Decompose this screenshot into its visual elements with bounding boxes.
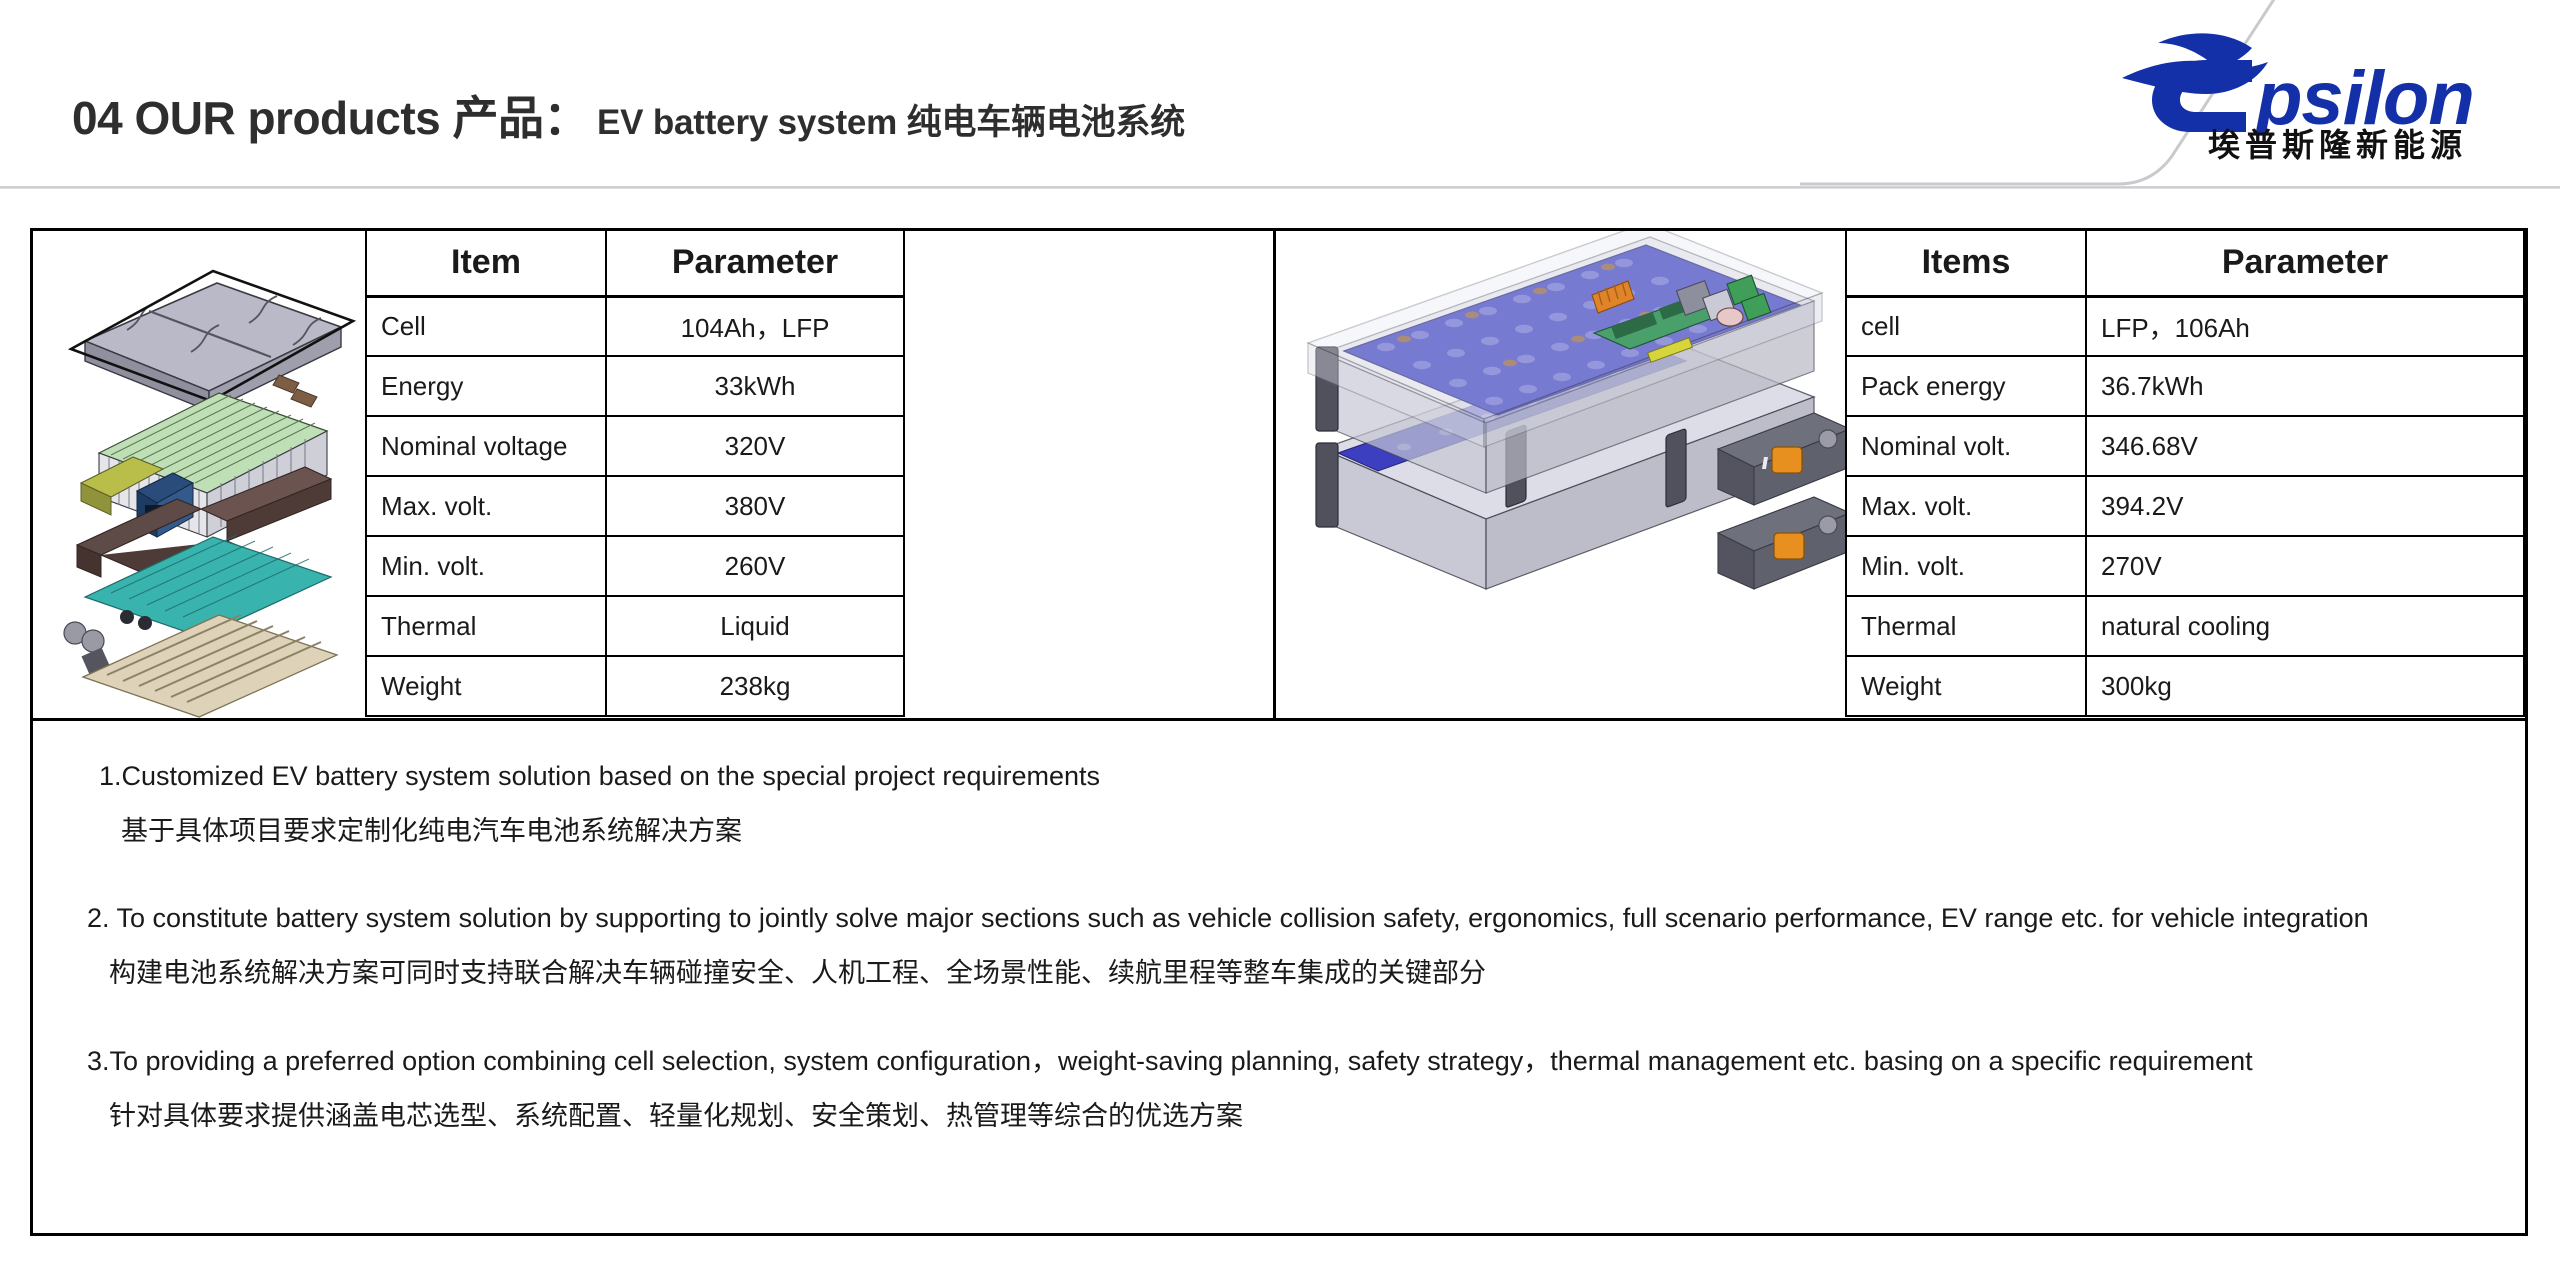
products-row: Item Parameter Cell 104Ah，LFP Energy 33k… (33, 231, 2525, 718)
row-label: Pack energy (1846, 356, 2086, 416)
table-row: Weight 238kg (366, 656, 904, 716)
row-label: Max. volt. (1846, 476, 2086, 536)
table-header-row: Items Parameter (1846, 229, 2524, 296)
row-label: cell (1846, 296, 2086, 356)
row-label: Min. volt. (1846, 536, 2086, 596)
row-label: Thermal (366, 596, 606, 656)
logo-chinese-subtitle: 埃普斯隆新能源 (2208, 120, 2467, 166)
bullet-text-en: 2. To constitute battery system solution… (87, 899, 2495, 938)
column-header-item: Item (366, 229, 606, 296)
page-title: 04 OUR products 产品：EV battery system 纯电车… (72, 82, 1185, 148)
row-label: Max. volt. (366, 476, 606, 536)
table-row: cell LFP，106Ah (1846, 296, 2524, 356)
row-value: LFP，106Ah (2086, 296, 2524, 356)
row-value: 320V (606, 416, 904, 476)
bullet-text-en: 1.Customized EV battery system solution … (99, 757, 2495, 796)
row-label: Weight (1846, 656, 2086, 716)
row-value: 270V (2086, 536, 2524, 596)
table-row: Max. volt. 394.2V (1846, 476, 2524, 536)
bullet-text-cn: 基于具体项目要求定制化纯电汽车电池系统解决方案 (121, 812, 2495, 851)
row-value: 346.68V (2086, 416, 2524, 476)
right-product-image (1276, 231, 1845, 718)
list-item: 2. To constitute battery system solution… (87, 899, 2495, 993)
row-label: Energy (366, 356, 606, 416)
row-value: Liquid (606, 596, 904, 656)
content-frame: Item Parameter Cell 104Ah，LFP Energy 33k… (30, 228, 2528, 1236)
page-title-main: 04 OUR products 产品： (72, 92, 589, 144)
list-item: 3.To providing a preferred option combin… (87, 1042, 2495, 1136)
column-header-items: Items (1846, 229, 2086, 296)
bullet-text-en: 3.To providing a preferred option combin… (87, 1042, 2495, 1081)
list-item: 1.Customized EV battery system solution … (99, 757, 2495, 851)
table-row: Nominal voltage 320V (366, 416, 904, 476)
table-row: Thermal Liquid (366, 596, 904, 656)
column-header-parameter: Parameter (2086, 229, 2524, 296)
right-spec-table: Items Parameter cell LFP，106Ah Pack ener… (1845, 228, 2525, 717)
bullet-text-cn: 针对具体要求提供涵盖电芯选型、系统配置、轻量化规划、安全策划、热管理等综合的优选… (109, 1097, 2495, 1136)
slide-root: 04 OUR products 产品：EV battery system 纯电车… (0, 0, 2560, 1274)
bullet-text-cn: 构建电池系统解决方案可同时支持联合解决车辆碰撞安全、人机工程、全场景性能、续航里… (109, 954, 2495, 993)
row-label: Weight (366, 656, 606, 716)
row-value: 238kg (606, 656, 904, 716)
row-value: 104Ah，LFP (606, 296, 904, 356)
row-label: Cell (366, 296, 606, 356)
row-value: 260V (606, 536, 904, 596)
row-value: natural cooling (2086, 596, 2524, 656)
table-row: Weight 300kg (1846, 656, 2524, 716)
header-separator-line (0, 186, 2560, 189)
left-spec-table: Item Parameter Cell 104Ah，LFP Energy 33k… (365, 228, 905, 717)
table-row: Nominal volt. 346.68V (1846, 416, 2524, 476)
company-logo: psilon 埃普斯隆新能源 (2106, 24, 2498, 164)
row-label: Nominal volt. (1846, 416, 2086, 476)
column-header-parameter: Parameter (606, 229, 904, 296)
description-list: 1.Customized EV battery system solution … (33, 721, 2525, 1239)
row-value: 300kg (2086, 656, 2524, 716)
epsilon-logo-icon: psilon (2106, 24, 2498, 134)
table-header-row: Item Parameter (366, 229, 904, 296)
left-product-image (33, 231, 365, 718)
table-row: Min. volt. 260V (366, 536, 904, 596)
row-value: 33kWh (606, 356, 904, 416)
table-row: Thermal natural cooling (1846, 596, 2524, 656)
row-label: Nominal voltage (366, 416, 606, 476)
row-label: Thermal (1846, 596, 2086, 656)
table-row: Energy 33kWh (366, 356, 904, 416)
table-row: Min. volt. 270V (1846, 536, 2524, 596)
table-row: Max. volt. 380V (366, 476, 904, 536)
row-value: 36.7kWh (2086, 356, 2524, 416)
row-label: Min. volt. (366, 536, 606, 596)
page-title-sub: EV battery system 纯电车辆电池系统 (597, 103, 1185, 142)
slide-header: 04 OUR products 产品：EV battery system 纯电车… (0, 0, 2560, 190)
row-value: 394.2V (2086, 476, 2524, 536)
table-row: Pack energy 36.7kWh (1846, 356, 2524, 416)
table-row: Cell 104Ah，LFP (366, 296, 904, 356)
row-value: 380V (606, 476, 904, 536)
